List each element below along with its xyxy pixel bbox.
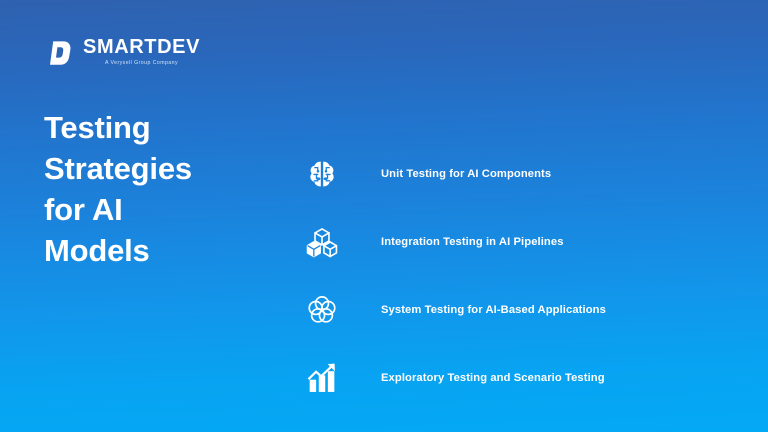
- slide-title-line-1: Testing: [44, 107, 274, 148]
- list-item-label: Unit Testing for AI Components: [381, 168, 551, 180]
- list-item-label: System Testing for AI-Based Applications: [381, 304, 606, 316]
- cubes-stack-icon: [300, 220, 344, 264]
- growth-chart-icon: [300, 356, 344, 400]
- brand-logo: SMARTDEV A Verysell Group Company: [44, 36, 200, 68]
- list-item[interactable]: Integration Testing in AI Pipelines: [300, 208, 730, 276]
- topic-list: Unit Testing for AI Components: [300, 140, 730, 412]
- flower-circles-icon: [300, 288, 344, 332]
- slide-title: Testing Strategies for AI Models: [44, 107, 274, 271]
- list-item-label: Integration Testing in AI Pipelines: [381, 236, 564, 248]
- brand-logo-text: SMARTDEV A Verysell Group Company: [83, 36, 200, 68]
- smartdev-d-mark-icon: [44, 38, 74, 68]
- slide-canvas: SMARTDEV A Verysell Group Company Testin…: [0, 0, 768, 432]
- brand-wordmark: SMARTDEV: [83, 36, 200, 58]
- list-item-label: Exploratory Testing and Scenario Testing: [381, 372, 605, 384]
- slide-title-line-4: Models: [44, 230, 274, 271]
- brain-circuit-icon: [300, 152, 344, 196]
- list-item[interactable]: Unit Testing for AI Components: [300, 140, 730, 208]
- list-item[interactable]: System Testing for AI-Based Applications: [300, 276, 730, 344]
- slide-title-line-3: for AI: [44, 189, 274, 230]
- slide-title-line-2: Strategies: [44, 148, 274, 189]
- list-item[interactable]: Exploratory Testing and Scenario Testing: [300, 344, 730, 412]
- brand-tagline: A Verysell Group Company: [105, 59, 178, 68]
